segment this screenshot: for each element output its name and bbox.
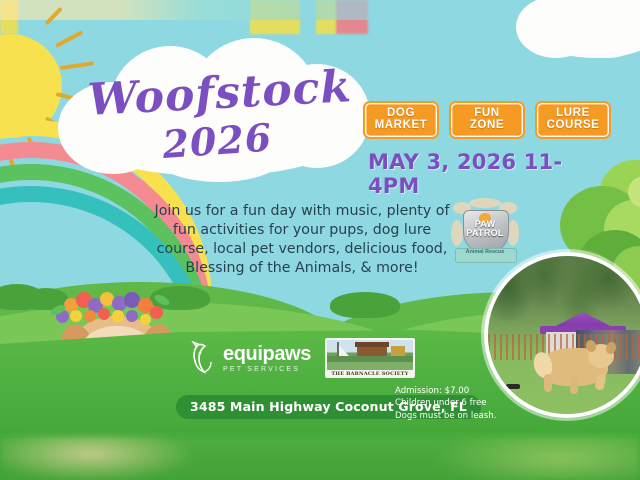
barnacle-society-logo[interactable]: THE BARNACLE SOCIETY <box>325 338 415 378</box>
equipaws-animal-icon <box>190 341 220 375</box>
event-photo <box>484 252 640 418</box>
badge-line1: DOG <box>372 107 430 119</box>
barnacle-name: THE BARNACLE SOCIETY <box>327 370 413 377</box>
badge-fun-zone[interactable]: FUN ZONE <box>449 101 525 139</box>
event-poster: Woofstock 2026 DOG MARKET FUN ZONE LURE … <box>0 0 640 480</box>
bush-right <box>330 292 400 318</box>
equipaws-logo[interactable]: equipaws PET SERVICES <box>190 341 311 375</box>
badge-dog-market[interactable]: DOG MARKET <box>363 101 439 139</box>
badge-line1: LURE <box>544 107 602 119</box>
equipaws-name: equipaws <box>223 344 311 364</box>
event-description: Join us for a fun day with music, plenty… <box>150 202 454 278</box>
equipaws-subtitle: PET SERVICES <box>223 366 311 373</box>
badge-line1: FUN <box>458 107 516 119</box>
poster-artwork: Woofstock 2026 DOG MARKET FUN ZONE LURE … <box>0 0 640 436</box>
sponsor-logos: equipaws PET SERVICES THE BARNACLE SOCIE… <box>190 338 415 378</box>
paw-badge-ribbon-text: Animal Rescue <box>455 249 515 256</box>
paw-badge-line2: PATROL <box>463 229 507 238</box>
event-date-time: MAY 3, 2026 11-4PM <box>368 150 598 198</box>
bottom-letterbox <box>0 436 640 480</box>
poster-title: Woofstock 2026 <box>84 65 358 167</box>
badge-line2: COURSE <box>544 119 602 131</box>
feature-badges: DOG MARKET FUN ZONE LURE COURSE <box>363 101 611 139</box>
corner-cloud <box>516 0 640 58</box>
badge-line2: ZONE <box>458 119 516 131</box>
badge-line2: MARKET <box>372 119 430 131</box>
badge-lure-course[interactable]: LURE COURSE <box>535 101 611 139</box>
barnacle-illustration <box>327 340 413 370</box>
